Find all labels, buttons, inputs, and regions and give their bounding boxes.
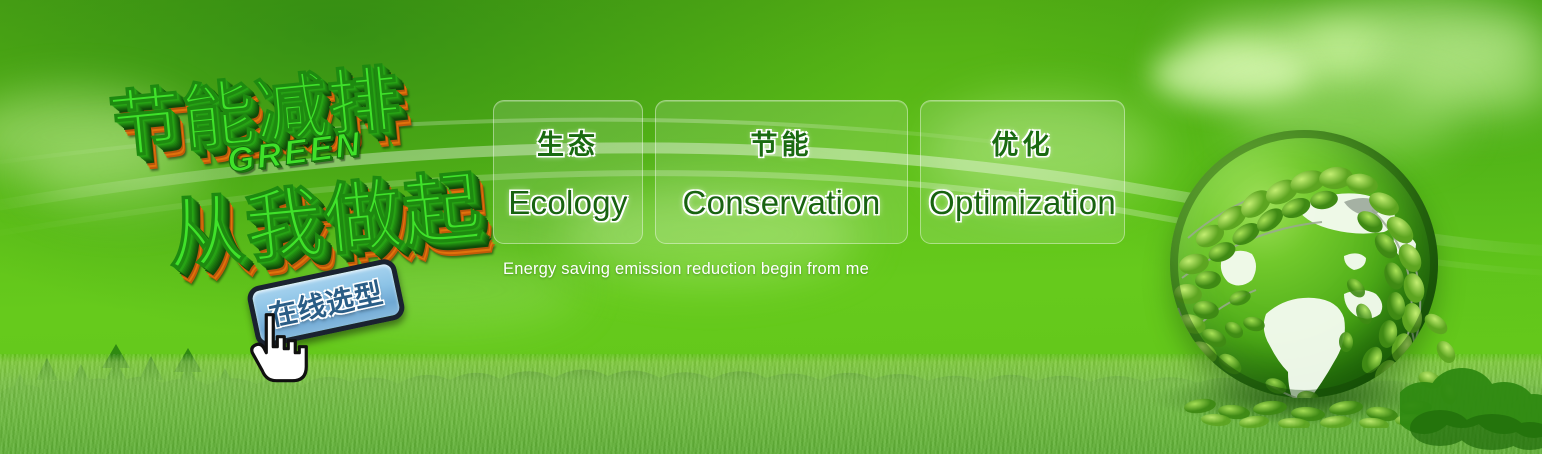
right-bushes-icon [1400, 352, 1542, 454]
feature-box-optimization[interactable]: 优化 Optimization [920, 100, 1125, 244]
online-selection-button[interactable]: 在线选型 [245, 257, 407, 349]
feature-box-optimization-cn: 优化 [992, 123, 1054, 162]
background-treeline-icon [0, 352, 1542, 414]
feature-box-optimization-en: Optimization [929, 184, 1116, 222]
online-selection-label: 在线选型 [265, 271, 387, 334]
grass-field-icon [0, 354, 1542, 454]
headline-line-bottom: 从我做起 [161, 144, 486, 286]
feature-box-conservation-cn: 节能 [751, 123, 813, 162]
headline-3d-logo: 节能减排 GREEN 从我做起 [90, 26, 491, 296]
green-energy-banner: 节能减排 GREEN 从我做起 在线选型 生态 Ecology 节能 Conse… [0, 0, 1542, 454]
feature-box-ecology-cn: 生态 [537, 123, 599, 162]
feature-box-ecology-en: Ecology [508, 184, 628, 222]
headline-line-top: 节能减排 [104, 39, 405, 172]
feature-box-ecology[interactable]: 生态 Ecology [493, 100, 643, 244]
online-selection-cta[interactable]: 在线选型 [245, 257, 407, 349]
feature-box-conservation-en: Conservation [682, 184, 880, 222]
banner-tagline: Energy saving emission reduction begin f… [503, 260, 869, 279]
grass-hill [0, 334, 1542, 454]
headline-line-green: GREEN [225, 125, 365, 181]
pine-trees-icon [0, 340, 314, 454]
leafy-globe-icon [1148, 118, 1458, 428]
feature-box-list: 生态 Ecology 节能 Conservation 优化 Optimizati… [493, 100, 1125, 244]
feature-box-conservation[interactable]: 节能 Conservation [655, 100, 908, 244]
